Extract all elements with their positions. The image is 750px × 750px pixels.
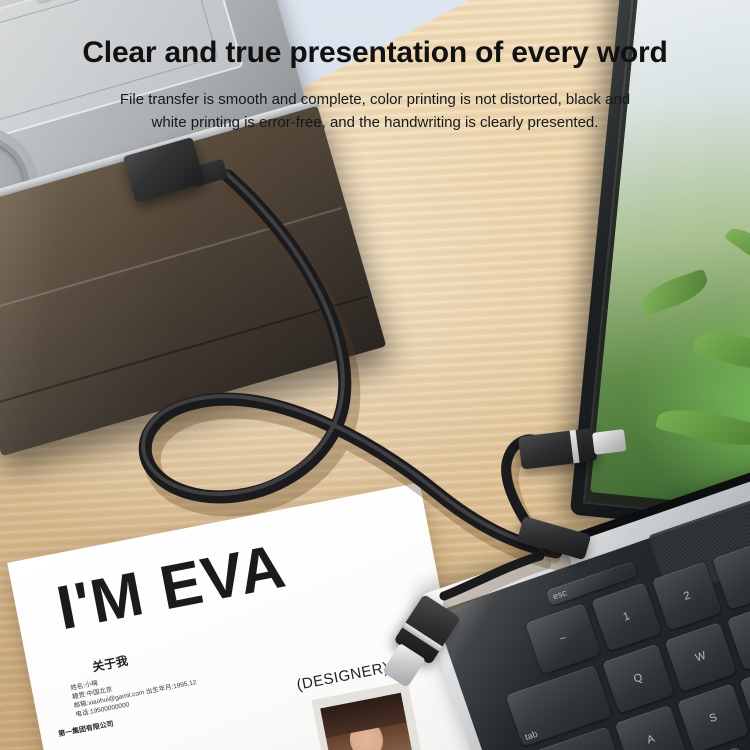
key-s[interactable]: S (677, 683, 749, 750)
key-2[interactable]: 2 (652, 561, 723, 630)
key-a[interactable]: A (615, 705, 687, 750)
product-marketing-image: I'M EVA 关于我 姓名:小梅 籍贯:中国北京 邮箱:xiaohui@gam… (0, 0, 750, 750)
key-w[interactable]: W (664, 622, 736, 692)
key-q[interactable]: Q (602, 644, 674, 714)
body-text: File transfer is smooth and complete, co… (40, 88, 710, 134)
key-1[interactable]: 1 (591, 582, 662, 651)
usb-c-tip (592, 429, 626, 455)
body-line-1: File transfer is smooth and complete, co… (40, 88, 710, 111)
headline: Clear and true presentation of every wor… (0, 36, 750, 70)
key-tilde[interactable]: ~ (525, 603, 601, 674)
body-line-2: white printing is error-free, and the ha… (40, 111, 710, 134)
